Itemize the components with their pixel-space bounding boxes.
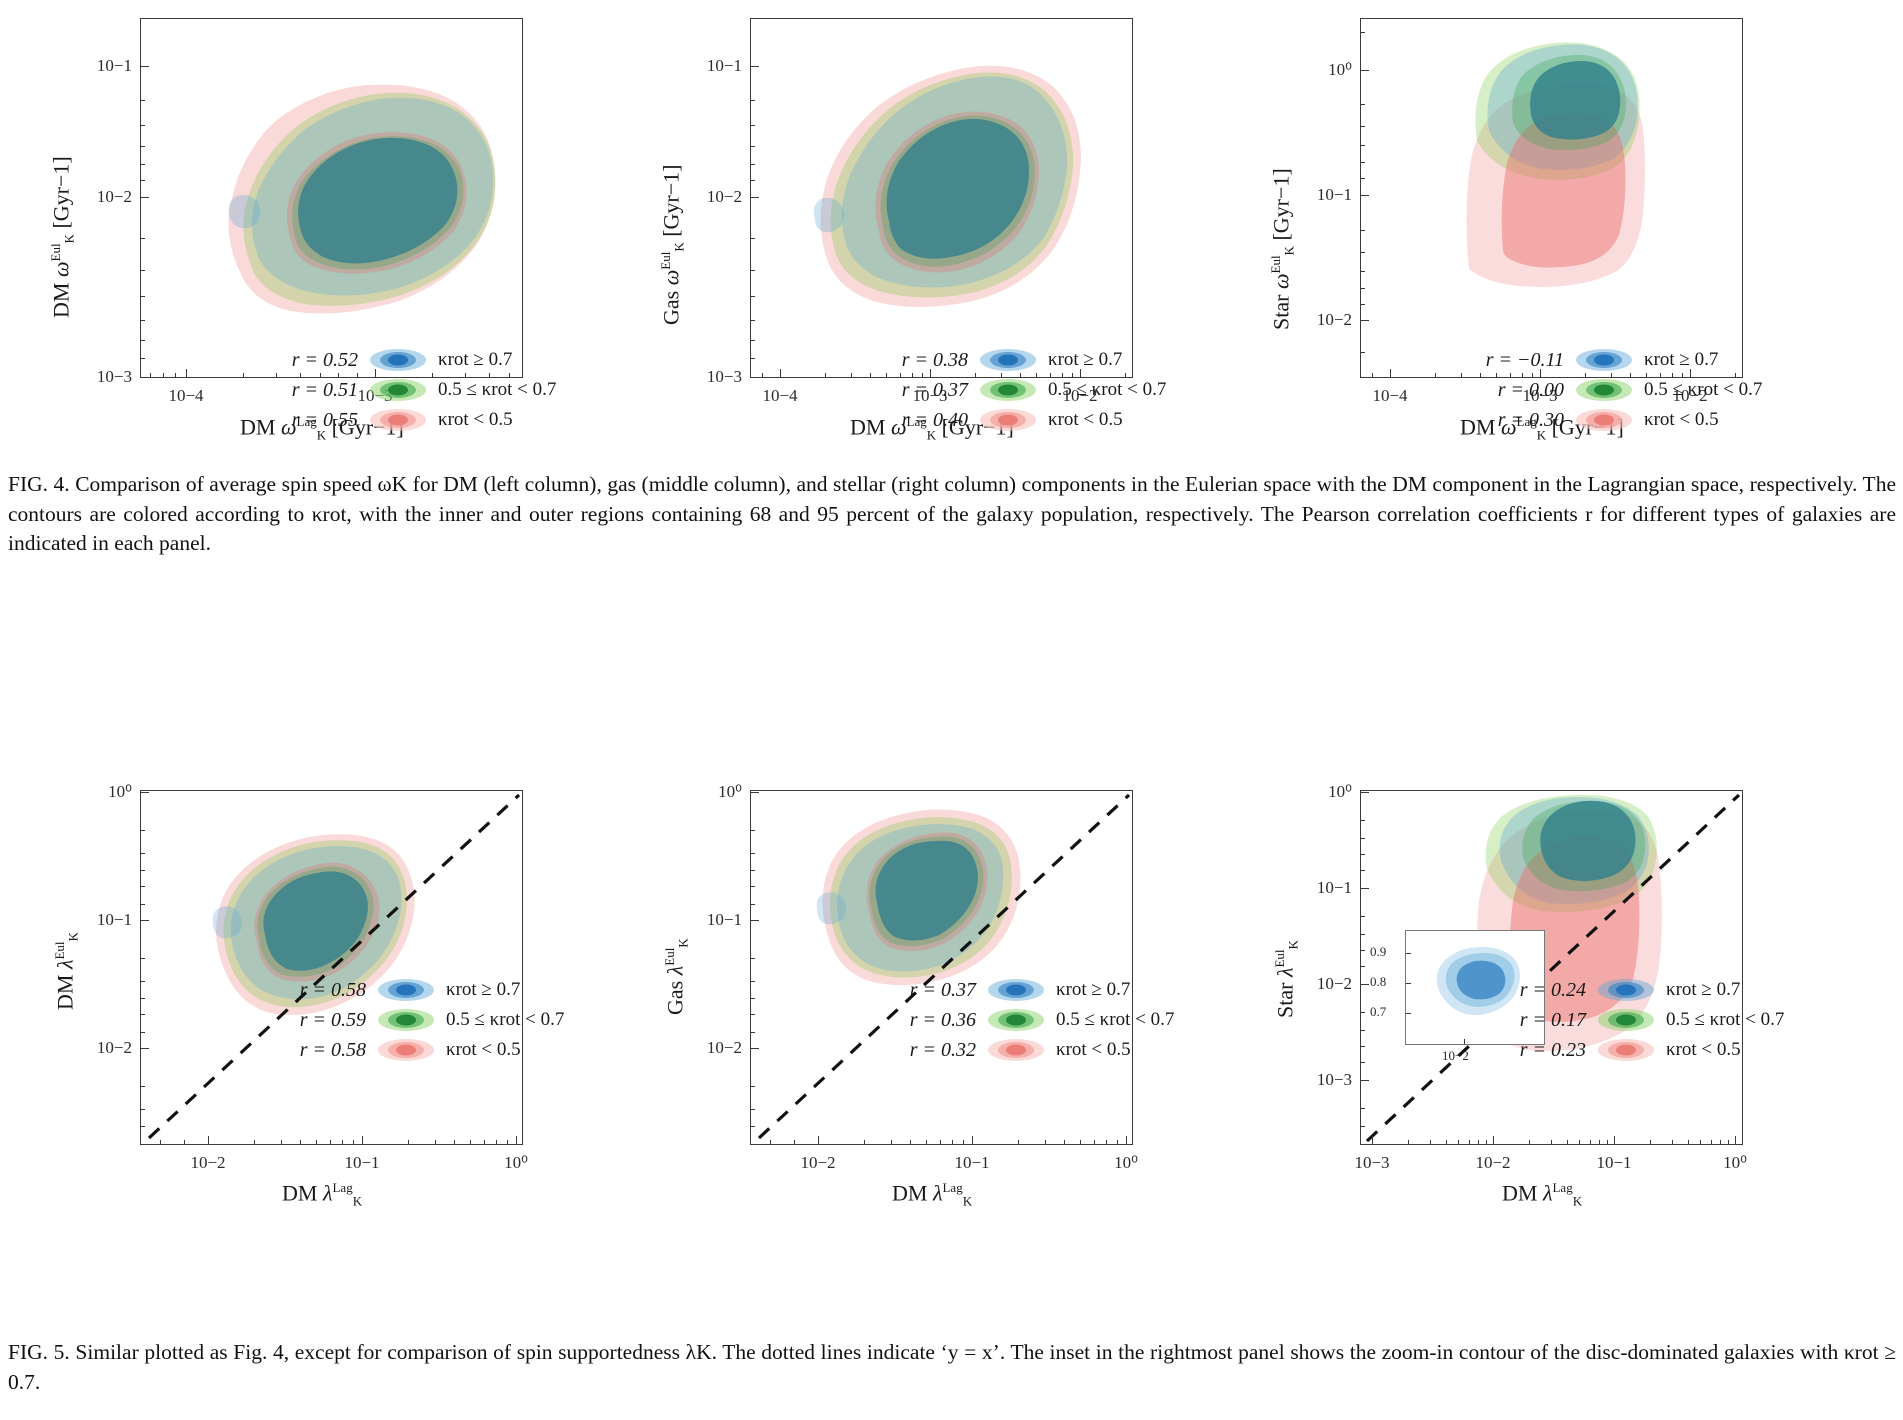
ytick-minor — [750, 1086, 755, 1087]
ytick-minor — [140, 853, 145, 854]
xtick-minor — [300, 1140, 301, 1145]
xtick-major — [972, 1136, 973, 1145]
legend-r-value: r = 0.17 — [1490, 1009, 1598, 1032]
ytick-minor — [750, 1126, 755, 1127]
ytick-minor — [750, 981, 755, 982]
xtick-major — [1493, 1136, 1494, 1145]
y-axis-sup: Eul — [1272, 949, 1287, 967]
xtick-minor — [926, 1140, 927, 1145]
xtick-minor — [1650, 1140, 1651, 1145]
ytick-minor — [140, 830, 145, 831]
ytick-minor — [140, 340, 145, 341]
ytick-major — [750, 1048, 759, 1049]
legend-row: r = 0.37 κrot ≥ 0.7 — [880, 975, 1174, 1005]
ytick-major — [1360, 70, 1369, 71]
ytick-label: 10−2 — [690, 1038, 742, 1058]
ytick-minor — [140, 981, 145, 982]
legend-label: 0.5 ≤ κrot < 0.7 — [1654, 1009, 1784, 1031]
xtick-minor — [160, 1140, 161, 1145]
panel-star-lambda: 0.9 0.8 0.7 10−2 10⁰ 10−1 10−2 10−3 — [1220, 760, 1820, 1320]
ytick-minor — [750, 164, 755, 165]
ytick-minor — [140, 1014, 145, 1015]
legend-row: r = 0.32 κrot < 0.5 — [880, 1035, 1174, 1065]
legend-label: 0.5 ≤ κrot < 0.7 — [434, 1009, 564, 1031]
ytick-label: 10−2 — [1300, 974, 1352, 994]
legend-row: r = 0.36 0.5 ≤ κrot < 0.7 — [880, 1005, 1174, 1035]
legend-swatch-blue-icon — [980, 349, 1036, 371]
plot-area-gas-lambda — [750, 790, 1133, 1145]
ytick-minor — [750, 1109, 755, 1110]
legend-row: r = 0.55 κrot < 0.5 — [262, 405, 556, 435]
x-axis-prefix: DM — [892, 1180, 927, 1205]
legend-row: r = 0.58 κrot < 0.5 — [270, 1035, 564, 1065]
ytick-minor — [1360, 271, 1365, 272]
ytick-minor — [750, 886, 755, 887]
legend-dm-omega: r = 0.52 κrot ≥ 0.7 r = 0.51 0.5 ≤ κrot … — [262, 345, 556, 435]
legend-label: 0.5 ≤ κrot < 0.7 — [426, 379, 556, 401]
xtick-minor — [435, 1140, 436, 1145]
legend-label: 0.5 ≤ κrot < 0.7 — [1632, 379, 1762, 401]
legend-swatch-red-icon — [988, 1039, 1044, 1061]
legend-r-value: r = 0.23 — [1490, 1039, 1598, 1062]
xtick-minor — [1720, 1140, 1721, 1145]
ytick-minor — [1360, 352, 1365, 353]
y-axis-sup: Eul — [1268, 255, 1283, 273]
ytick-label: 10−2 — [1300, 310, 1352, 330]
xtick-minor — [454, 1140, 455, 1145]
legend-swatch-blue-icon — [370, 349, 426, 371]
ytick-minor — [750, 1014, 755, 1015]
legend-swatch-red-icon — [378, 1039, 434, 1061]
legend-r-value: r = 0.37 — [872, 379, 980, 402]
ytick-minor — [750, 998, 755, 999]
xtick-minor — [952, 1140, 953, 1145]
legend-row: r = 0.30 κrot < 0.5 — [1468, 405, 1762, 435]
y-axis-unit: [Gyr−1] — [1268, 168, 1293, 240]
x-axis-prefix: DM — [282, 1180, 317, 1205]
ytick-major — [140, 197, 149, 198]
xtick-minor — [254, 1140, 255, 1145]
x-axis-sup: Lag — [1552, 1180, 1572, 1195]
ytick-minor — [1360, 178, 1365, 179]
ytick-major — [750, 920, 759, 921]
legend-label: κrot ≥ 0.7 — [434, 979, 520, 1001]
legend-gas-lambda: r = 0.37 κrot ≥ 0.7 r = 0.36 0.5 ≤ κrot … — [880, 975, 1174, 1065]
x-axis-title-star-lambda: DM λLagK — [1502, 1180, 1582, 1210]
ytick-major — [750, 792, 759, 793]
ytick-minor — [1360, 870, 1365, 871]
xtick-minor — [963, 1140, 964, 1145]
panel-gas-omega: 10−1 10−2 10−3 10−4 10−3 10−2 Gas ωEulK … — [610, 0, 1210, 540]
legend-row: r = 0.00 0.5 ≤ κrot < 0.7 — [1468, 375, 1762, 405]
legend-star-omega: r = −0.11 κrot ≥ 0.7 r = 0.00 0.5 ≤ κrot… — [1468, 345, 1762, 435]
xtick-minor — [1567, 1140, 1568, 1145]
ytick-minor — [140, 1126, 145, 1127]
legend-dm-lambda: r = 0.58 κrot ≥ 0.7 r = 0.59 0.5 ≤ κrot … — [270, 975, 564, 1065]
legend-swatch-red-icon — [370, 409, 426, 431]
xtick-minor — [1529, 1140, 1530, 1145]
xtick-minor — [470, 1140, 471, 1145]
y-axis-sup: Eul — [48, 243, 63, 261]
xtick-label: 10−2 — [190, 1153, 225, 1173]
x-axis-prefix: DM — [1502, 1180, 1537, 1205]
xtick-minor — [281, 1140, 282, 1145]
xtick-major — [186, 369, 187, 378]
y-axis-symbol: ω — [658, 270, 683, 286]
ytick-minor — [750, 146, 755, 147]
ytick-major — [140, 66, 149, 67]
xtick-major — [1735, 1136, 1736, 1145]
y-axis-unit: [Gyr−1] — [658, 165, 683, 237]
ytick-minor — [1360, 252, 1365, 253]
xtick-minor — [1469, 1140, 1470, 1145]
ytick-minor — [140, 886, 145, 887]
figure-4-caption: FIG. 4. Comparison of average spin speed… — [8, 470, 1896, 559]
legend-row: r = 0.17 0.5 ≤ κrot < 0.7 — [1490, 1005, 1784, 1035]
xtick-label: 10−3 — [1354, 1153, 1389, 1173]
y-axis-title-dm-lambda: DM λEulK — [52, 932, 82, 1010]
inset-xtick — [1464, 1039, 1465, 1044]
legend-label: κrot ≥ 0.7 — [426, 349, 512, 371]
plot-area-star-omega — [1360, 18, 1743, 378]
legend-r-value: r = 0.40 — [872, 409, 980, 432]
legend-star-lambda: r = 0.24 κrot ≥ 0.7 r = 0.17 0.5 ≤ κrot … — [1490, 975, 1784, 1065]
xtick-minor — [1672, 1140, 1673, 1145]
ytick-minor — [750, 853, 755, 854]
ytick-minor — [750, 358, 755, 359]
xtick-minor — [891, 1140, 892, 1145]
ytick-minor — [1360, 966, 1365, 967]
legend-swatch-green-icon — [378, 1009, 434, 1031]
legend-row: r = 0.38 κrot ≥ 0.7 — [872, 345, 1166, 375]
legend-row: r = 0.51 0.5 ≤ κrot < 0.7 — [262, 375, 556, 405]
ytick-minor — [1360, 934, 1365, 935]
xtick-minor — [353, 1140, 354, 1145]
legend-swatch-green-icon — [1576, 379, 1632, 401]
xtick-minor — [1551, 1140, 1552, 1145]
y-axis-symbol: λ — [1272, 968, 1297, 978]
xtick-minor — [1018, 1140, 1019, 1145]
x-axis-sup: Lag — [942, 1180, 962, 1195]
y-axis-sup: Eul — [662, 948, 677, 966]
legend-r-value: r = −0.11 — [1468, 349, 1576, 372]
ytick-major — [140, 377, 149, 378]
y-axis-symbol: λ — [52, 960, 77, 970]
legend-label: κrot ≥ 0.7 — [1654, 979, 1740, 1001]
xtick-minor — [762, 373, 763, 378]
xtick-label: 10−1 — [1596, 1153, 1631, 1173]
xtick-minor — [1372, 373, 1373, 378]
legend-label: κrot ≥ 0.7 — [1044, 979, 1130, 1001]
y-axis-symbol: λ — [662, 966, 687, 976]
x-axis-title-gas-lambda: DM λLagK — [892, 1180, 972, 1210]
legend-row: r = 0.59 0.5 ≤ κrot < 0.7 — [270, 1005, 564, 1035]
ytick-minor — [140, 238, 145, 239]
ytick-minor — [140, 180, 145, 181]
ytick-label: 10−3 — [690, 367, 742, 387]
legend-label: 0.5 ≤ κrot < 0.7 — [1044, 1009, 1174, 1031]
ytick-major — [1360, 320, 1369, 321]
ytick-minor — [140, 998, 145, 999]
xtick-minor — [408, 1140, 409, 1145]
legend-row: r = 0.40 κrot < 0.5 — [872, 405, 1166, 435]
legend-r-value: r = 0.37 — [880, 979, 988, 1002]
y-axis-title-star-lambda: Star λEulK — [1272, 940, 1302, 1018]
ytick-minor — [1360, 1062, 1365, 1063]
ytick-minor — [1360, 288, 1365, 289]
xtick-label: 10−4 — [1372, 386, 1407, 406]
ytick-minor — [1360, 1108, 1365, 1109]
x-axis-sub: K — [353, 1194, 362, 1209]
x-axis-title-dm-lambda: DM λLagK — [282, 1180, 362, 1210]
ytick-label: 10−1 — [690, 56, 742, 76]
figure-4: 10−1 10−2 10−3 10−4 10−3 DM ωEulK [Gyr−1… — [0, 0, 1903, 540]
xtick-minor — [150, 373, 151, 378]
y-axis-sub: K — [676, 938, 691, 947]
ytick-minor — [140, 358, 145, 359]
xtick-minor — [794, 1140, 795, 1145]
xtick-minor — [243, 373, 244, 378]
xtick-minor — [864, 1140, 865, 1145]
ytick-major — [140, 920, 149, 921]
contours-gas-lambda — [751, 791, 1133, 1145]
ytick-label: 10−2 — [80, 1038, 132, 1058]
ytick-minor — [1360, 104, 1365, 105]
ytick-minor — [1360, 838, 1365, 839]
ytick-minor — [750, 125, 755, 126]
legend-r-value: r = 0.00 — [1468, 379, 1576, 402]
legend-swatch-red-icon — [1576, 409, 1632, 431]
ytick-minor — [1360, 162, 1365, 163]
ytick-minor — [750, 100, 755, 101]
legend-label: κrot ≥ 0.7 — [1632, 349, 1718, 371]
xtick-label: 10−1 — [954, 1153, 989, 1173]
ytick-major — [1360, 792, 1369, 793]
legend-label: 0.5 ≤ κrot < 0.7 — [1036, 379, 1166, 401]
ytick-minor — [1360, 1126, 1365, 1127]
xtick-minor — [1080, 1140, 1081, 1145]
ytick-minor — [750, 870, 755, 871]
legend-r-value: r = 0.30 — [1468, 409, 1576, 432]
legend-label: κrot ≥ 0.7 — [1036, 349, 1122, 371]
legend-r-value: r = 0.58 — [270, 1039, 378, 1062]
legend-swatch-green-icon — [370, 379, 426, 401]
xtick-minor — [1478, 1140, 1479, 1145]
y-axis-prefix: Star — [1268, 295, 1293, 330]
legend-swatch-green-icon — [980, 379, 1036, 401]
y-axis-title-gas-lambda: Gas λEulK — [662, 938, 692, 1015]
xtick-minor — [1408, 1140, 1409, 1145]
xtick-major — [1126, 1136, 1127, 1145]
xtick-major — [1390, 369, 1391, 378]
xtick-label: 10−2 — [800, 1153, 835, 1173]
panel-star-omega: 10⁰ 10−1 10−2 10−4 10−3 10−2 Star ωEulK … — [1220, 0, 1820, 540]
y-axis-sub: K — [1286, 940, 1301, 949]
y-axis-symbol: ω — [1268, 274, 1293, 290]
xtick-label: 10−4 — [762, 386, 797, 406]
xtick-minor — [175, 373, 176, 378]
ytick-major — [1360, 195, 1369, 196]
xtick-minor — [484, 1140, 485, 1145]
ytick-minor — [1360, 145, 1365, 146]
legend-r-value: r = 0.38 — [872, 349, 980, 372]
ytick-major — [750, 377, 759, 378]
ytick-major — [1360, 1080, 1369, 1081]
figure-5-caption: FIG. 5. Similar plotted as Fig. 4, excep… — [8, 1338, 1896, 1397]
ytick-minor — [750, 904, 755, 905]
xtick-minor — [1461, 373, 1462, 378]
xtick-minor — [910, 1140, 911, 1145]
inset-xtick-label: 10−2 — [1442, 1048, 1469, 1064]
xtick-minor — [1728, 1140, 1729, 1145]
inset-ytick-label: 0.8 — [1370, 974, 1386, 990]
ytick-label: 10−3 — [1300, 1070, 1352, 1090]
xtick-minor — [1430, 1140, 1431, 1145]
legend-swatch-blue-icon — [1576, 349, 1632, 371]
ytick-label: 10−1 — [690, 910, 742, 930]
ytick-label: 10−1 — [80, 56, 132, 76]
y-axis-prefix: DM — [48, 283, 73, 318]
xtick-major — [362, 1136, 363, 1145]
ytick-minor — [140, 958, 145, 959]
inset-ytick — [1406, 1013, 1411, 1014]
ytick-minor — [140, 1032, 145, 1033]
ytick-minor — [750, 270, 755, 271]
legend-row: r = 0.37 0.5 ≤ κrot < 0.7 — [872, 375, 1166, 405]
y-axis-sup: Eul — [52, 941, 67, 959]
y-axis-prefix: Gas — [658, 291, 683, 325]
plot-area-gas-omega — [750, 18, 1133, 378]
xtick-minor — [1688, 1140, 1689, 1145]
legend-label: κrot < 0.5 — [1654, 1039, 1741, 1061]
ytick-minor — [140, 870, 145, 871]
y-axis-title-star-omega: Star ωEulK [Gyr−1] — [1268, 168, 1298, 330]
ytick-minor — [1360, 950, 1365, 951]
ytick-minor — [140, 320, 145, 321]
legend-r-value: r = 0.58 — [270, 979, 378, 1002]
ytick-label: 10⁰ — [690, 782, 742, 802]
ytick-minor — [750, 958, 755, 959]
inset-ytick-label: 0.7 — [1370, 1004, 1386, 1020]
xtick-minor — [1117, 1140, 1118, 1145]
legend-r-value: r = 0.36 — [880, 1009, 988, 1032]
ytick-minor — [750, 340, 755, 341]
ytick-label: 10⁰ — [1300, 782, 1352, 802]
xtick-minor — [1064, 1140, 1065, 1145]
y-axis-title-gas-omega: Gas ωEulK [Gyr−1] — [658, 165, 688, 326]
xtick-major — [208, 1136, 209, 1145]
inset-ytick-label: 0.9 — [1370, 944, 1386, 960]
legend-row: r = 0.23 κrot < 0.5 — [1490, 1035, 1784, 1065]
contours-dm-lambda — [141, 791, 523, 1145]
legend-swatch-green-icon — [1598, 1009, 1654, 1031]
xtick-label: 10⁰ — [1723, 1153, 1747, 1173]
legend-label: κrot < 0.5 — [1044, 1039, 1131, 1061]
xtick-major — [818, 1136, 819, 1145]
ytick-minor — [750, 320, 755, 321]
panel-dm-lambda: 10⁰ 10−1 10−2 10−2 10−1 10⁰ DM λEulK DM … — [0, 760, 600, 1320]
ytick-minor — [1360, 230, 1365, 231]
ytick-minor — [140, 125, 145, 126]
xtick-minor — [1590, 1140, 1591, 1145]
xtick-label: 10⁰ — [1114, 1153, 1138, 1173]
ytick-minor — [1360, 32, 1365, 33]
contours-gas-omega — [751, 19, 1133, 378]
ytick-minor — [750, 830, 755, 831]
figure-5: 10⁰ 10−1 10−2 10−2 10−1 10⁰ DM λEulK DM … — [0, 760, 1903, 1420]
legend-gas-omega: r = 0.38 κrot ≥ 0.7 r = 0.37 0.5 ≤ κrot … — [872, 345, 1166, 435]
ytick-major — [1360, 984, 1369, 985]
xtick-minor — [184, 1140, 185, 1145]
legend-label: κrot < 0.5 — [434, 1039, 521, 1061]
ytick-minor — [750, 238, 755, 239]
ytick-label: 10⁰ — [80, 782, 132, 802]
ytick-minor — [1360, 1046, 1365, 1047]
xtick-minor — [1579, 1140, 1580, 1145]
y-axis-symbol: ω — [48, 262, 73, 278]
xtick-minor — [1599, 1140, 1600, 1145]
ytick-major — [750, 197, 759, 198]
xtick-label: 10−2 — [1475, 1153, 1510, 1173]
ytick-minor — [1360, 304, 1365, 305]
legend-swatch-green-icon — [988, 1009, 1044, 1031]
xtick-minor — [940, 1140, 941, 1145]
ytick-minor — [140, 1086, 145, 1087]
ytick-label: 10⁰ — [1300, 60, 1352, 80]
ytick-minor — [140, 1109, 145, 1110]
ytick-minor — [1360, 1012, 1365, 1013]
ytick-minor — [1360, 820, 1365, 821]
xtick-minor — [316, 1140, 317, 1145]
y-axis-prefix: DM — [52, 975, 77, 1010]
xtick-minor — [825, 373, 826, 378]
y-axis-sub: K — [62, 234, 77, 243]
x-axis-sub: K — [963, 1194, 972, 1209]
y-axis-prefix: Gas — [662, 981, 687, 1015]
legend-r-value: r = 0.32 — [880, 1039, 988, 1062]
xtick-major — [1614, 1136, 1615, 1145]
xtick-minor — [330, 1140, 331, 1145]
legend-row: r = −0.11 κrot ≥ 0.7 — [1468, 345, 1762, 375]
ytick-minor — [140, 100, 145, 101]
xtick-minor — [163, 373, 164, 378]
legend-r-value: r = 0.55 — [262, 409, 370, 432]
legend-swatch-red-icon — [1598, 1039, 1654, 1061]
xtick-minor — [1106, 1140, 1107, 1145]
xtick-label: 10−4 — [168, 386, 203, 406]
legend-label: κrot < 0.5 — [1632, 409, 1719, 431]
legend-swatch-blue-icon — [988, 979, 1044, 1001]
y-axis-title-dm-omega: DM ωEulK [Gyr−1] — [48, 156, 78, 318]
y-axis-prefix: Star — [1272, 983, 1297, 1018]
ytick-major — [1360, 888, 1369, 889]
y-axis-sub: K — [672, 242, 687, 251]
ytick-major — [750, 66, 759, 67]
legend-swatch-blue-icon — [378, 979, 434, 1001]
ytick-label: 10−1 — [80, 910, 132, 930]
inset-ytick — [1406, 953, 1411, 954]
ytick-label: 10−3 — [80, 367, 132, 387]
legend-r-value: r = 0.52 — [262, 349, 370, 372]
ytick-label: 10−1 — [1300, 878, 1352, 898]
xtick-minor — [507, 1140, 508, 1145]
ytick-label: 10−1 — [1300, 185, 1352, 205]
legend-r-value: r = 0.24 — [1490, 979, 1598, 1002]
xtick-major — [1372, 1136, 1373, 1145]
xtick-major — [780, 369, 781, 378]
legend-row: r = 0.52 κrot ≥ 0.7 — [262, 345, 556, 375]
xtick-minor — [1700, 1140, 1701, 1145]
